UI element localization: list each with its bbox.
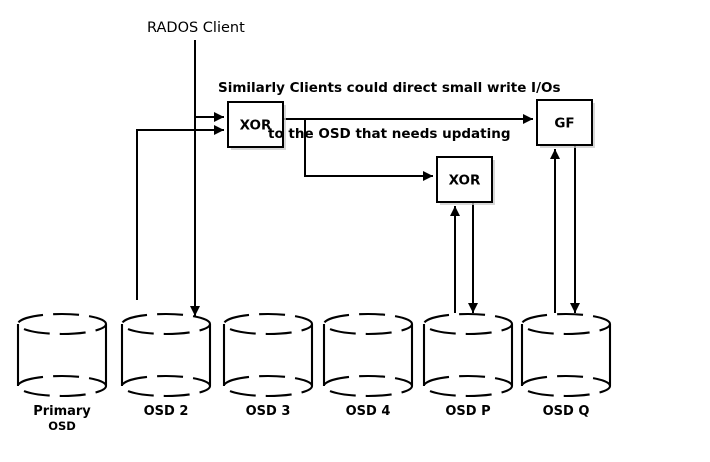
primary-disk-bottom bbox=[18, 376, 106, 396]
osd3-disk-top bbox=[224, 314, 312, 334]
osdp-label-main: OSD P bbox=[445, 404, 490, 419]
annotation-line-1: Similarly Clients could direct small wri… bbox=[218, 81, 561, 96]
connector-primary-to-xor1 bbox=[137, 130, 224, 300]
osd-disk-layer bbox=[18, 314, 610, 396]
annotation-note: Similarly Clients could direct small wri… bbox=[218, 51, 561, 172]
osdq-disk-top bbox=[522, 314, 610, 334]
annotation-line-2: to the OSD that needs updating bbox=[218, 127, 561, 142]
osd-disk-4[interactable] bbox=[324, 314, 412, 396]
primary-disk-top bbox=[18, 314, 106, 334]
xor2-label: XOR bbox=[449, 173, 481, 189]
osd-disk-p[interactable] bbox=[424, 314, 512, 396]
osdp-disk-bottom bbox=[424, 376, 512, 396]
diagram-canvas: XOR XOR GF bbox=[0, 0, 710, 462]
osdq-label-main: OSD Q bbox=[543, 404, 590, 419]
osd-primary-label-main: Primary bbox=[33, 404, 91, 419]
osd-disk-q[interactable] bbox=[522, 314, 610, 396]
osdp-disk-top bbox=[424, 314, 512, 334]
osd-primary-label-sub: OSD bbox=[2, 419, 122, 433]
osd2-disk-bottom bbox=[122, 376, 210, 396]
osd2-disk-top bbox=[122, 314, 210, 334]
osd-disk-label-q: OSD Q bbox=[506, 404, 626, 419]
osd2-label-main: OSD 2 bbox=[144, 404, 189, 419]
osd-disk-label-primary: Primary OSD bbox=[2, 404, 122, 433]
osd-disk-3[interactable] bbox=[224, 314, 312, 396]
rados-client-title: RADOS Client bbox=[147, 20, 245, 37]
osd3-disk-bottom bbox=[224, 376, 312, 396]
osd4-disk-bottom bbox=[324, 376, 412, 396]
osdq-disk-bottom bbox=[522, 376, 610, 396]
osd4-disk-top bbox=[324, 314, 412, 334]
osd-disk-2[interactable] bbox=[122, 314, 210, 396]
osd3-label-main: OSD 3 bbox=[246, 404, 291, 419]
osd-disk-primary[interactable] bbox=[18, 314, 106, 396]
osd4-label-main: OSD 4 bbox=[346, 404, 391, 419]
